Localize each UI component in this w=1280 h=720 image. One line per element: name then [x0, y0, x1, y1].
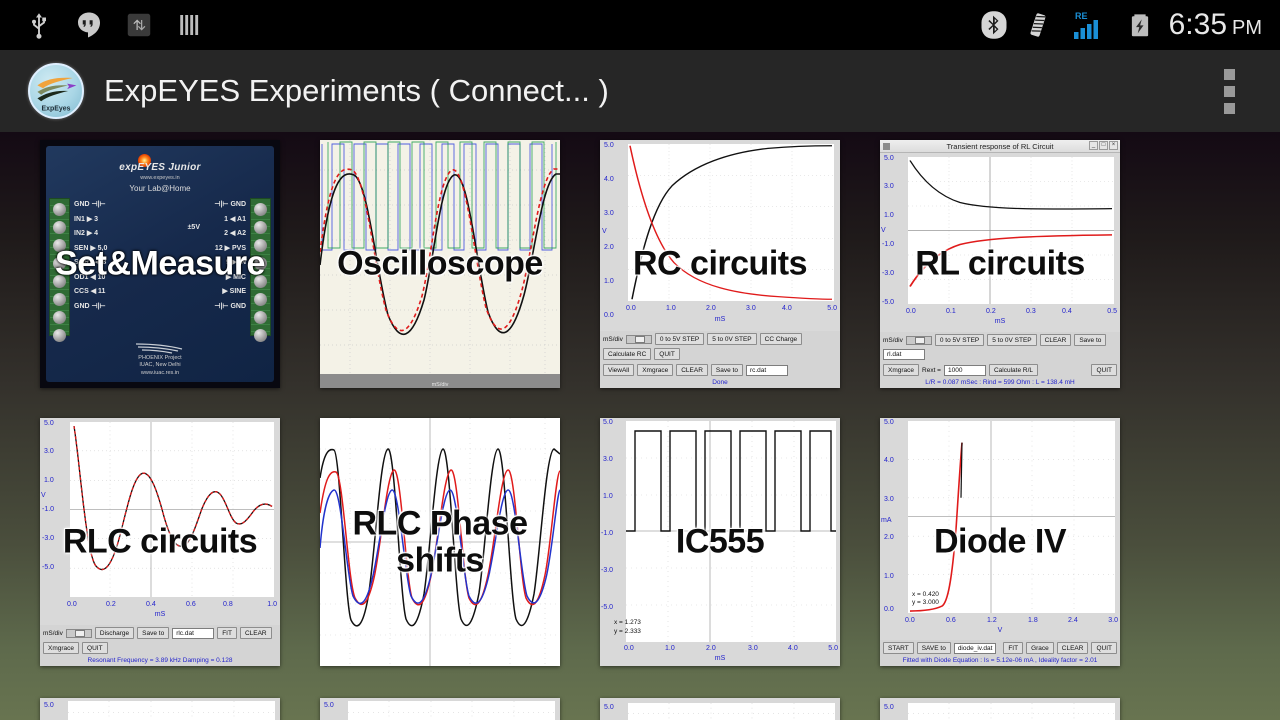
board-footer: PHOENIX Project IUAC, New Delhi www.iuac…	[46, 355, 274, 378]
grid-row-3-partial: 5.0 5.0	[0, 698, 1280, 720]
logo-text: ExpEyes	[42, 106, 71, 113]
plot-canvas	[908, 703, 1115, 720]
x-tick: 0.2	[986, 308, 996, 315]
tile-thumbnail: 5.0 3.0 1.0 -1.0 -3.0 -5.0 x = 1.273 y =…	[600, 418, 840, 666]
board-tagline-label: Your Lab@Home	[46, 184, 274, 193]
x-tick: 0.6	[946, 617, 956, 624]
rl-status-text: L/R = 0.087 mSec : Rind = 599 Ohm : L = …	[880, 378, 1120, 388]
x-tick: 0.4	[146, 601, 156, 608]
pin-label: ⊣|⊢ GND	[214, 300, 246, 315]
diode-plot-canvas	[908, 421, 1115, 613]
x-tick: 0.0	[905, 617, 915, 624]
y-tick: -5.0	[42, 564, 54, 571]
close-button[interactable]: ×	[1109, 141, 1118, 150]
save-filename-input[interactable]: rl.dat	[883, 349, 925, 360]
tile-thumbnail: 5.0	[320, 698, 560, 720]
tile-thumbnail: 5.0 3.0 1.0 -1.0 -3.0 -5.0 V 0.0 0.2 0.4…	[40, 418, 280, 666]
x-axis-label: mS	[715, 655, 726, 662]
xmgrace-button[interactable]: Xmgrace	[883, 364, 919, 376]
calculate-rl-button[interactable]: Calculate R/L	[989, 364, 1038, 376]
y-tick: 5.0	[44, 702, 54, 709]
y-tick: 4.0	[884, 457, 894, 464]
fit-button[interactable]: FIT	[217, 627, 237, 639]
diode-controls[interactable]: START SAVE to diode_iv.dat FIT Grace CLE…	[880, 640, 1120, 656]
step-5-0v-button[interactable]: 5 to 0V STEP	[707, 333, 756, 345]
pin-label: SQR1 ◀ 8	[74, 256, 107, 271]
x-tick: 5.0	[828, 645, 838, 652]
board-pins-right: ⊣|⊢ GND 1 ◀ A1 2 ◀ A2 12 ▶ PVS 9 ▶ IN ▶ …	[214, 198, 246, 314]
phase-plot-area	[320, 418, 560, 666]
y-tick: 5.0	[44, 420, 54, 427]
vibrate-icon	[1023, 10, 1053, 40]
battery-charging-icon	[1125, 10, 1155, 40]
rc-plot-area: 5.0 4.0 3.0 2.0 1.0 0.0 V 0.0 1.0 2.0 3.…	[600, 140, 840, 331]
y-tick: 3.0	[884, 496, 894, 503]
tile-thumbnail: Transient response of RL Circuit _ □ ×	[880, 140, 1120, 388]
rc-plot-window: 5.0 4.0 3.0 2.0 1.0 0.0 V 0.0 1.0 2.0 3.…	[600, 140, 840, 388]
x-tick: 0.2	[106, 601, 116, 608]
cc-charge-button[interactable]: CC Charge	[760, 333, 803, 345]
grace-button[interactable]: Grace	[1026, 642, 1054, 654]
pin-label: ▶ MIC	[214, 271, 246, 286]
pin-label: ▶ SINE	[214, 285, 246, 300]
step-5-0v-button[interactable]: 5 to 0V STEP	[987, 334, 1036, 346]
step-0-5v-button[interactable]: 0 to 5V STEP	[655, 333, 704, 345]
oscilloscope-plot: mS/div	[320, 140, 560, 388]
ic555-plot-area: 5.0 3.0 1.0 -1.0 -3.0 -5.0 x = 1.273 y =…	[600, 418, 840, 666]
rc-controls-row2[interactable]: ViewAll Xmgrace CLEAR Save to rc.dat	[600, 362, 840, 378]
save-filename-input[interactable]: rlc.dat	[172, 628, 214, 639]
rc-controls-row1[interactable]: mS/div 0 to 5V STEP 5 to 0V STEP CC Char…	[600, 331, 840, 362]
save-filename-input[interactable]: rc.dat	[746, 365, 788, 376]
experiment-grid[interactable]: expEYES Junior www.expeyes.in Your Lab@H…	[0, 132, 1280, 720]
x-axis-label: mS	[995, 318, 1006, 325]
pin-label: IN1 ▶ 3	[74, 213, 107, 228]
y-tick: 5.0	[604, 142, 614, 149]
ic555-plot-window: 5.0 3.0 1.0 -1.0 -3.0 -5.0 x = 1.273 y =…	[600, 418, 840, 666]
y-tick: 2.0	[884, 534, 894, 541]
x-tick: 3.0	[746, 305, 756, 312]
ms-div-slider[interactable]	[626, 335, 652, 344]
terminal-block-right	[250, 198, 271, 336]
x-tick: 2.0	[706, 305, 716, 312]
scope-footer-label: mS/div	[432, 382, 449, 388]
y-tick: -1.0	[42, 506, 54, 513]
ms-div-slider[interactable]	[66, 629, 92, 638]
status-bar-left-icons	[0, 10, 204, 40]
save-to-button[interactable]: Save to	[1074, 334, 1106, 346]
y-tick: 5.0	[884, 419, 894, 426]
app-root: RE 6:35 PM Exp	[0, 0, 1280, 720]
y-tick: 3.0	[603, 456, 613, 463]
tile-row3-1[interactable]: 5.0	[40, 698, 280, 720]
diode-plot-window: 5.0 4.0 3.0 2.0 1.0 0.0 mA x = 0.420 y =…	[880, 418, 1120, 666]
x-tick: 1.0	[267, 601, 277, 608]
x-axis-label: V	[998, 627, 1003, 634]
rc-plot-canvas	[628, 144, 834, 301]
x-tick: 4.0	[782, 305, 792, 312]
expeyes-logo-icon: ExpEyes	[28, 63, 84, 119]
tile-thumbnail: 5.0	[40, 698, 280, 720]
tile-rlc-circuits[interactable]: 5.0 3.0 1.0 -1.0 -3.0 -5.0 V 0.0 0.2 0.4…	[40, 418, 280, 666]
save-to-button[interactable]: Save to	[137, 627, 169, 639]
x-tick: 0.0	[67, 601, 77, 608]
ms-div-label: mS/div	[43, 630, 63, 637]
y-tick: -1.0	[882, 241, 894, 248]
plot-canvas	[348, 701, 555, 720]
x-tick: 1.8	[1028, 617, 1038, 624]
window-buttons[interactable]: _ □ ×	[1089, 141, 1118, 150]
y-tick: -5.0	[601, 604, 613, 611]
diode-plot-area: 5.0 4.0 3.0 2.0 1.0 0.0 mA x = 0.420 y =…	[880, 418, 1120, 640]
board-footer-line: www.iuac.res.in	[46, 370, 274, 378]
xmgrace-button[interactable]: Xmgrace	[43, 642, 79, 654]
plot-canvas	[628, 703, 835, 720]
board-footer-line: PHOENIX Project	[46, 355, 274, 363]
x-tick: 0.1	[946, 308, 956, 315]
fit-button[interactable]: FIT	[1003, 642, 1023, 654]
tile-thumbnail: 5.0	[880, 698, 1120, 720]
tile-thumbnail: 5.0 4.0 3.0 2.0 1.0 0.0 V 0.0 1.0 2.0 3.…	[600, 140, 840, 388]
step-0-5v-button[interactable]: 0 to 5V STEP	[935, 334, 984, 346]
plot-canvas	[68, 701, 275, 720]
diode-status-text: Fitted with Diode Equation : Is = 5.12e-…	[880, 656, 1120, 666]
pin-label: 2 ◀ A2	[214, 227, 246, 242]
tile-thumbnail: mS/div	[320, 140, 560, 388]
y-tick: 5.0	[604, 704, 614, 711]
hangouts-icon	[74, 10, 104, 40]
y-tick: -3.0	[601, 567, 613, 574]
tile-rc-circuits[interactable]: 5.0 4.0 3.0 2.0 1.0 0.0 V 0.0 1.0 2.0 3.…	[600, 140, 840, 388]
pin-label: OD1 ◀ 10	[74, 271, 107, 286]
rl-plot-window: Transient response of RL Circuit _ □ ×	[880, 140, 1120, 388]
y-tick: 5.0	[324, 702, 334, 709]
scope-footer-bar: mS/div	[320, 374, 560, 388]
tile-oscilloscope[interactable]: mS/div Oscilloscope	[320, 140, 560, 388]
y-tick: 1.0	[603, 493, 613, 500]
overflow-dot	[1224, 86, 1235, 97]
y-tick: 3.0	[604, 210, 614, 217]
rext-input[interactable]: 1000	[944, 365, 986, 376]
rc-status-text: Done	[600, 378, 840, 388]
overflow-menu-icon[interactable]	[1216, 65, 1242, 117]
clear-button[interactable]: CLEAR	[1040, 334, 1072, 346]
x-tick: 1.0	[665, 645, 675, 652]
tile-ic555[interactable]: 5.0 3.0 1.0 -1.0 -3.0 -5.0 x = 1.273 y =…	[600, 418, 840, 666]
ic555-plot-canvas	[626, 421, 836, 642]
y-tick: -3.0	[42, 535, 54, 542]
board-pcb: expEYES Junior www.expeyes.in Your Lab@H…	[46, 146, 274, 382]
rl-plot-area: 5.0 3.0 1.0 -1.0 -3.0 -5.0 V 0.0 0.1 0.2…	[880, 153, 1120, 332]
page-title: ExpEYES Experiments ( Connect... )	[104, 73, 609, 109]
pin-label: ⊣|⊢ GND	[214, 198, 246, 213]
ms-div-label: mS/div	[883, 337, 903, 344]
usb-icon	[24, 10, 54, 40]
status-bar-right-icons: RE 6:35 PM	[979, 8, 1280, 42]
rlc-plot-window: 5.0 3.0 1.0 -1.0 -3.0 -5.0 V 0.0 0.2 0.4…	[40, 418, 280, 666]
clear-button[interactable]: CLEAR	[676, 364, 708, 376]
tile-rl-circuits[interactable]: Transient response of RL Circuit _ □ ×	[880, 140, 1120, 388]
tile-thumbnail: 5.0	[600, 698, 840, 720]
rl-plot-canvas	[908, 157, 1114, 304]
y-tick: 1.0	[884, 212, 894, 219]
x-tick: 4.0	[788, 645, 798, 652]
window-menu-icon[interactable]	[883, 143, 890, 150]
quit-button[interactable]: QUIT	[82, 642, 108, 654]
start-button[interactable]: START	[883, 642, 914, 654]
x-tick: 0.0	[906, 308, 916, 315]
x-tick: 0.3	[1026, 308, 1036, 315]
pin-label: GND ⊣|⊢	[74, 198, 107, 213]
x-tick: 0.5	[1107, 308, 1117, 315]
pin-label: 9 ▶ IN	[214, 256, 246, 271]
phoenix-logo-icon	[134, 340, 186, 354]
x-tick: 3.0	[1108, 617, 1118, 624]
rext-label: Rext =	[922, 367, 941, 374]
y-axis-label: V	[881, 227, 886, 234]
clear-button[interactable]: CLEAR	[240, 627, 272, 639]
y-tick: 1.0	[44, 477, 54, 484]
rlc-plot-area: 5.0 3.0 1.0 -1.0 -3.0 -5.0 V 0.0 0.2 0.4…	[40, 418, 280, 625]
signal-bars-icon: RE	[1067, 10, 1111, 40]
pin-label: CCS ◀ 11	[74, 285, 107, 300]
tile-set-measure[interactable]: expEYES Junior www.expeyes.in Your Lab@H…	[40, 140, 280, 388]
cursor-x-annotation: x = 0.420	[912, 591, 939, 598]
x-tick: 5.0	[827, 305, 837, 312]
pin-label: GND ⊣|⊢	[74, 300, 107, 315]
y-tick: 0.0	[604, 312, 614, 319]
y-tick: 5.0	[884, 155, 894, 162]
y-axis-label: V	[41, 492, 46, 499]
board-url-label: www.expeyes.in	[46, 175, 274, 181]
x-tick: 0.0	[626, 305, 636, 312]
ms-div-label: mS/div	[603, 336, 623, 343]
y-tick: 5.0	[884, 704, 894, 711]
tile-thumbnail: 5.0 4.0 3.0 2.0 1.0 0.0 mA x = 0.420 y =…	[880, 418, 1120, 666]
tile-row3-3[interactable]: 5.0	[600, 698, 840, 720]
board-brand-label: expEYES Junior	[46, 162, 274, 173]
x-tick: 1.2	[987, 617, 997, 624]
scope-traces	[320, 140, 560, 374]
data-sync-icon	[124, 10, 154, 40]
x-tick: 0.4	[1062, 308, 1072, 315]
x-tick: 0.8	[223, 601, 233, 608]
board-footer-line: IUAC, New Delhi	[46, 362, 274, 370]
pin-label: 12 ▶ PVS	[214, 242, 246, 257]
y-tick: 4.0	[604, 176, 614, 183]
phase-traces	[320, 418, 560, 666]
y-tick: -3.0	[882, 270, 894, 277]
ms-div-slider[interactable]	[906, 336, 932, 345]
y-axis-label: mA	[881, 517, 892, 524]
y-tick: 5.0	[603, 419, 613, 426]
pin-label: 1 ◀ A1	[214, 213, 246, 228]
view-all-button[interactable]: ViewAll	[603, 364, 634, 376]
clear-button[interactable]: CLEAR	[1057, 642, 1089, 654]
tile-thumbnail	[320, 418, 560, 666]
tile-thumbnail: expEYES Junior www.expeyes.in Your Lab@H…	[40, 140, 280, 388]
x-tick: 2.4	[1068, 617, 1078, 624]
rlc-status-text: Resonant Frequency = 3.89 kHz Damping = …	[40, 656, 280, 666]
discharge-button[interactable]: Discharge	[95, 627, 134, 639]
terminal-block-left	[49, 198, 70, 336]
cursor-y-annotation: y = 3.000	[912, 599, 939, 606]
y-tick: 0.0	[884, 606, 894, 613]
overflow-dot	[1224, 103, 1235, 114]
save-to-button[interactable]: Save to	[711, 364, 743, 376]
app-bar: ExpEyes ExpEYES Experiments ( Connect...…	[0, 50, 1280, 132]
pin-label: SEN ▶ 5,0	[74, 242, 107, 257]
grid-row-2: 5.0 3.0 1.0 -1.0 -3.0 -5.0 V 0.0 0.2 0.4…	[0, 418, 1280, 666]
overflow-dot	[1224, 69, 1235, 80]
rl-controls-row2[interactable]: Xmgrace Rext = 1000 Calculate R/L QUIT	[880, 362, 1120, 378]
quit-button[interactable]: QUIT	[1091, 642, 1117, 654]
barcode-icon	[174, 10, 204, 40]
y-tick: 3.0	[44, 448, 54, 455]
x-tick: 1.0	[666, 305, 676, 312]
board-mid-label: ±5V	[188, 224, 200, 231]
x-tick: 0.6	[186, 601, 196, 608]
quit-button[interactable]: QUIT	[654, 348, 680, 360]
x-axis-label: mS	[715, 316, 726, 323]
clock-ampm: PM	[1232, 17, 1262, 40]
x-tick: 3.0	[748, 645, 758, 652]
board-pins-left: GND ⊣|⊢ IN1 ▶ 3 IN2 ▶ 4 SEN ▶ 5,0 SQR1 ◀…	[74, 198, 107, 314]
xmgrace-button[interactable]: Xmgrace	[637, 364, 673, 376]
y-tick: 1.0	[884, 573, 894, 580]
status-bar-clock: 6:35 PM	[1169, 8, 1262, 42]
pin-label: IN2 ▶ 4	[74, 227, 107, 242]
tile-row3-2[interactable]: 5.0	[320, 698, 560, 720]
expeyes-board-photo: expEYES Junior www.expeyes.in Your Lab@H…	[40, 140, 280, 388]
cursor-y-annotation: y = 2.333	[614, 628, 641, 635]
save-filename-input[interactable]: diode_iv.dat	[954, 643, 997, 654]
y-tick: 1.0	[604, 278, 614, 285]
minimize-button[interactable]: _	[1089, 141, 1098, 150]
signal-roaming-label: RE	[1075, 11, 1088, 21]
rl-window-title: Transient response of RL Circuit	[947, 142, 1054, 151]
rlc-controls[interactable]: mS/div Discharge Save to rlc.dat FIT CLE…	[40, 625, 280, 656]
x-tick: 0.0	[624, 645, 634, 652]
save-to-button[interactable]: SAVE to	[917, 642, 951, 654]
status-bar: RE 6:35 PM	[0, 0, 1280, 50]
tile-rlc-phase-shifts[interactable]: RLC Phase shifts	[320, 418, 560, 666]
tile-row3-4[interactable]: 5.0	[880, 698, 1120, 720]
rlc-plot-canvas	[70, 422, 274, 597]
bluetooth-icon	[979, 10, 1009, 40]
x-tick: 2.0	[706, 645, 716, 652]
y-axis-label: V	[602, 228, 607, 235]
y-tick: 3.0	[884, 183, 894, 190]
clock-time: 6:35	[1169, 8, 1227, 42]
tile-diode-iv[interactable]: 5.0 4.0 3.0 2.0 1.0 0.0 mA x = 0.420 y =…	[880, 418, 1120, 666]
quit-button[interactable]: QUIT	[1091, 364, 1117, 376]
rl-controls-row1[interactable]: mS/div 0 to 5V STEP 5 to 0V STEP CLEAR S…	[880, 332, 1120, 362]
y-tick: -1.0	[601, 530, 613, 537]
cursor-x-annotation: x = 1.273	[614, 619, 641, 626]
y-tick: -5.0	[882, 299, 894, 306]
rl-window-titlebar: Transient response of RL Circuit _ □ ×	[880, 140, 1120, 153]
x-axis-label: mS	[155, 611, 166, 618]
grid-row-1: expEYES Junior www.expeyes.in Your Lab@H…	[0, 140, 1280, 388]
y-tick: 2.0	[604, 244, 614, 251]
calculate-rc-button[interactable]: Calculate RC	[603, 348, 651, 360]
maximize-button[interactable]: □	[1099, 141, 1108, 150]
